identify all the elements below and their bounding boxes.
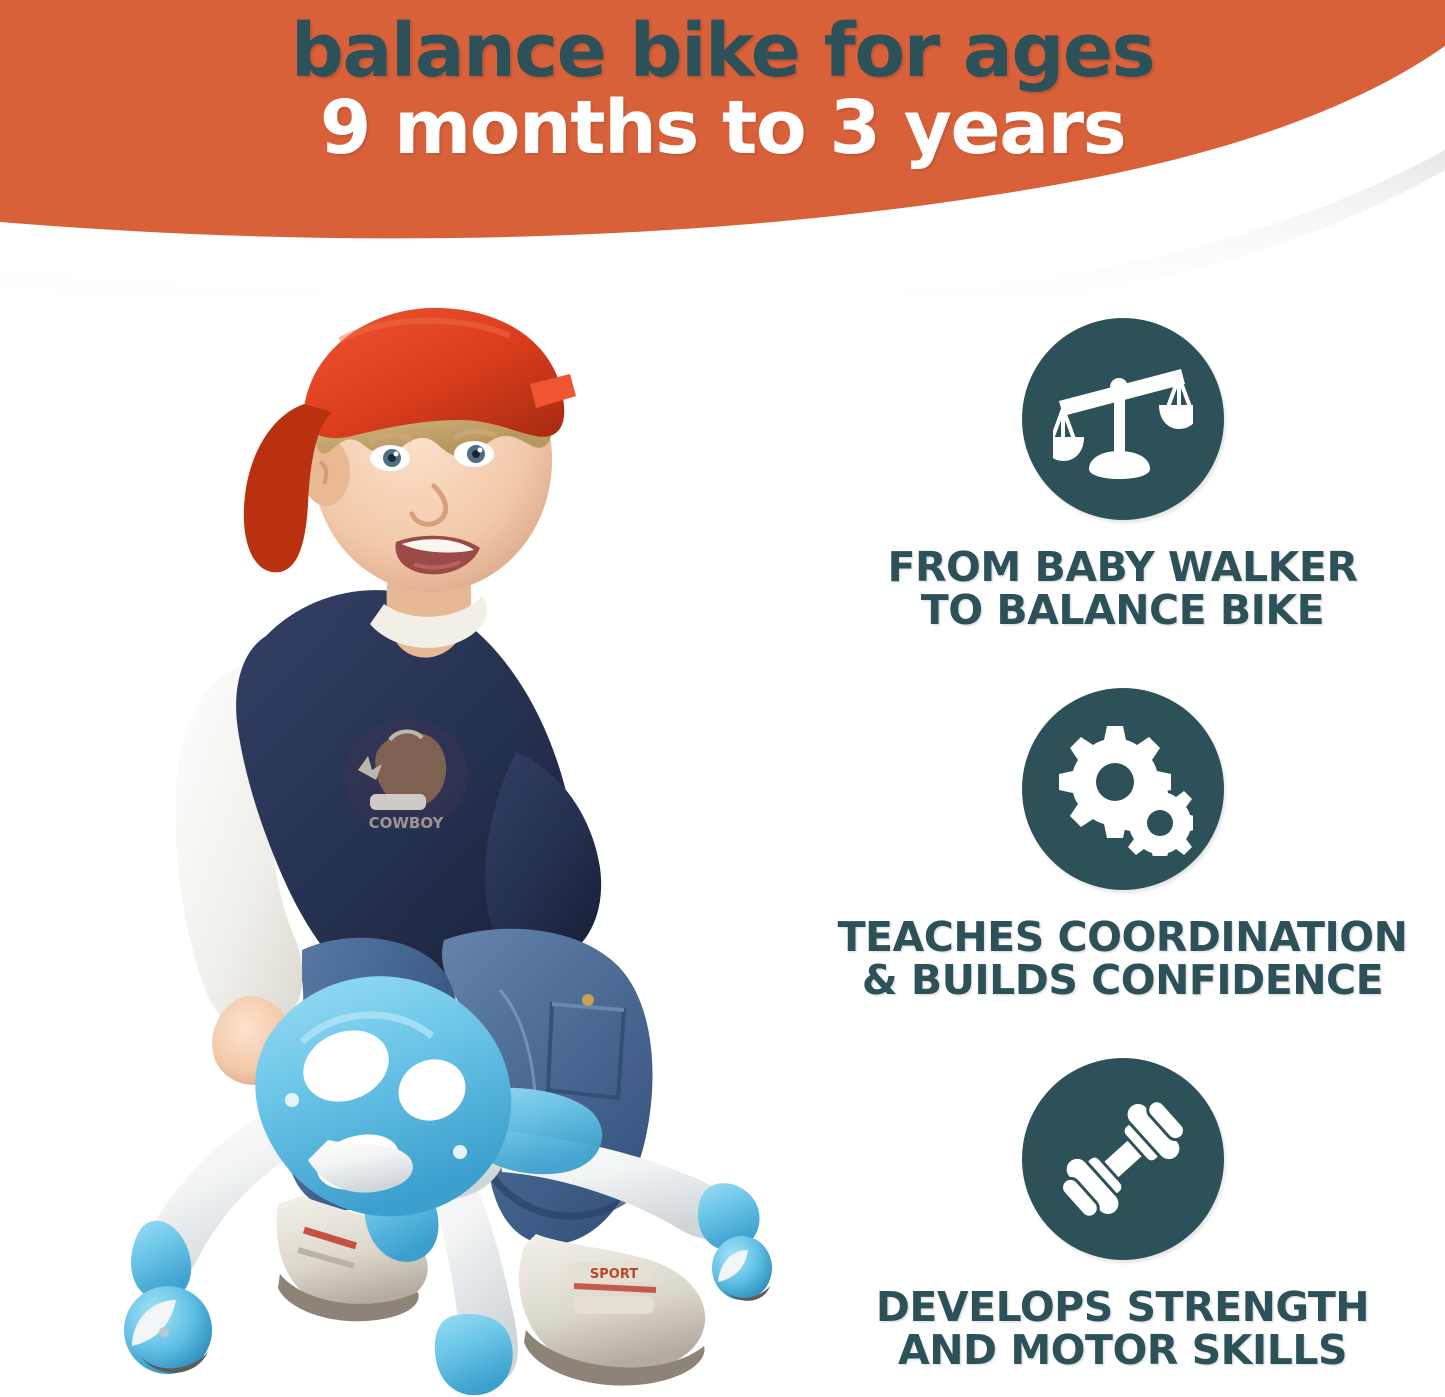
feature-icon-circle [1022, 688, 1224, 890]
header-banner: balance bike for ages 9 months to 3 year… [0, 0, 1445, 300]
feature-icon-circle [1022, 318, 1224, 520]
feature-caption: DEVELOPS STRENGTH AND MOTOR SKILLS [876, 1286, 1369, 1373]
dumbbell-icon [1054, 1090, 1192, 1228]
feature-icon-circle [1022, 1058, 1224, 1260]
cap-crown [304, 308, 564, 438]
bike-wheel-right [712, 1236, 772, 1300]
balance-scale-icon [1053, 357, 1193, 481]
product-photo: COWBOY [40, 300, 800, 1397]
feature-caption: TEACHES COORDINATION & BUILDS CONFIDENCE [838, 916, 1408, 1003]
svg-text:COWBOY: COWBOY [369, 814, 445, 832]
feature-item-develops-strength: DEVELOPS STRENGTH AND MOTOR SKILLS [800, 1058, 1445, 1373]
gears-icon [1053, 722, 1193, 856]
feature-item-teaches-coordination: TEACHES COORDINATION & BUILDS CONFIDENCE [800, 688, 1445, 1003]
product-infographic: balance bike for ages 9 months to 3 year… [0, 0, 1445, 1397]
svg-text:SPORT: SPORT [590, 1267, 638, 1282]
feature-list: FROM BABY WALKER TO BALANCE BIKE [800, 300, 1445, 1397]
feature-caption: FROM BABY WALKER TO BALANCE BIKE [887, 546, 1357, 633]
bike-leg-front-sleeve [435, 1314, 513, 1395]
feature-item-from-baby-walker: FROM BABY WALKER TO BALANCE BIKE [800, 318, 1445, 633]
